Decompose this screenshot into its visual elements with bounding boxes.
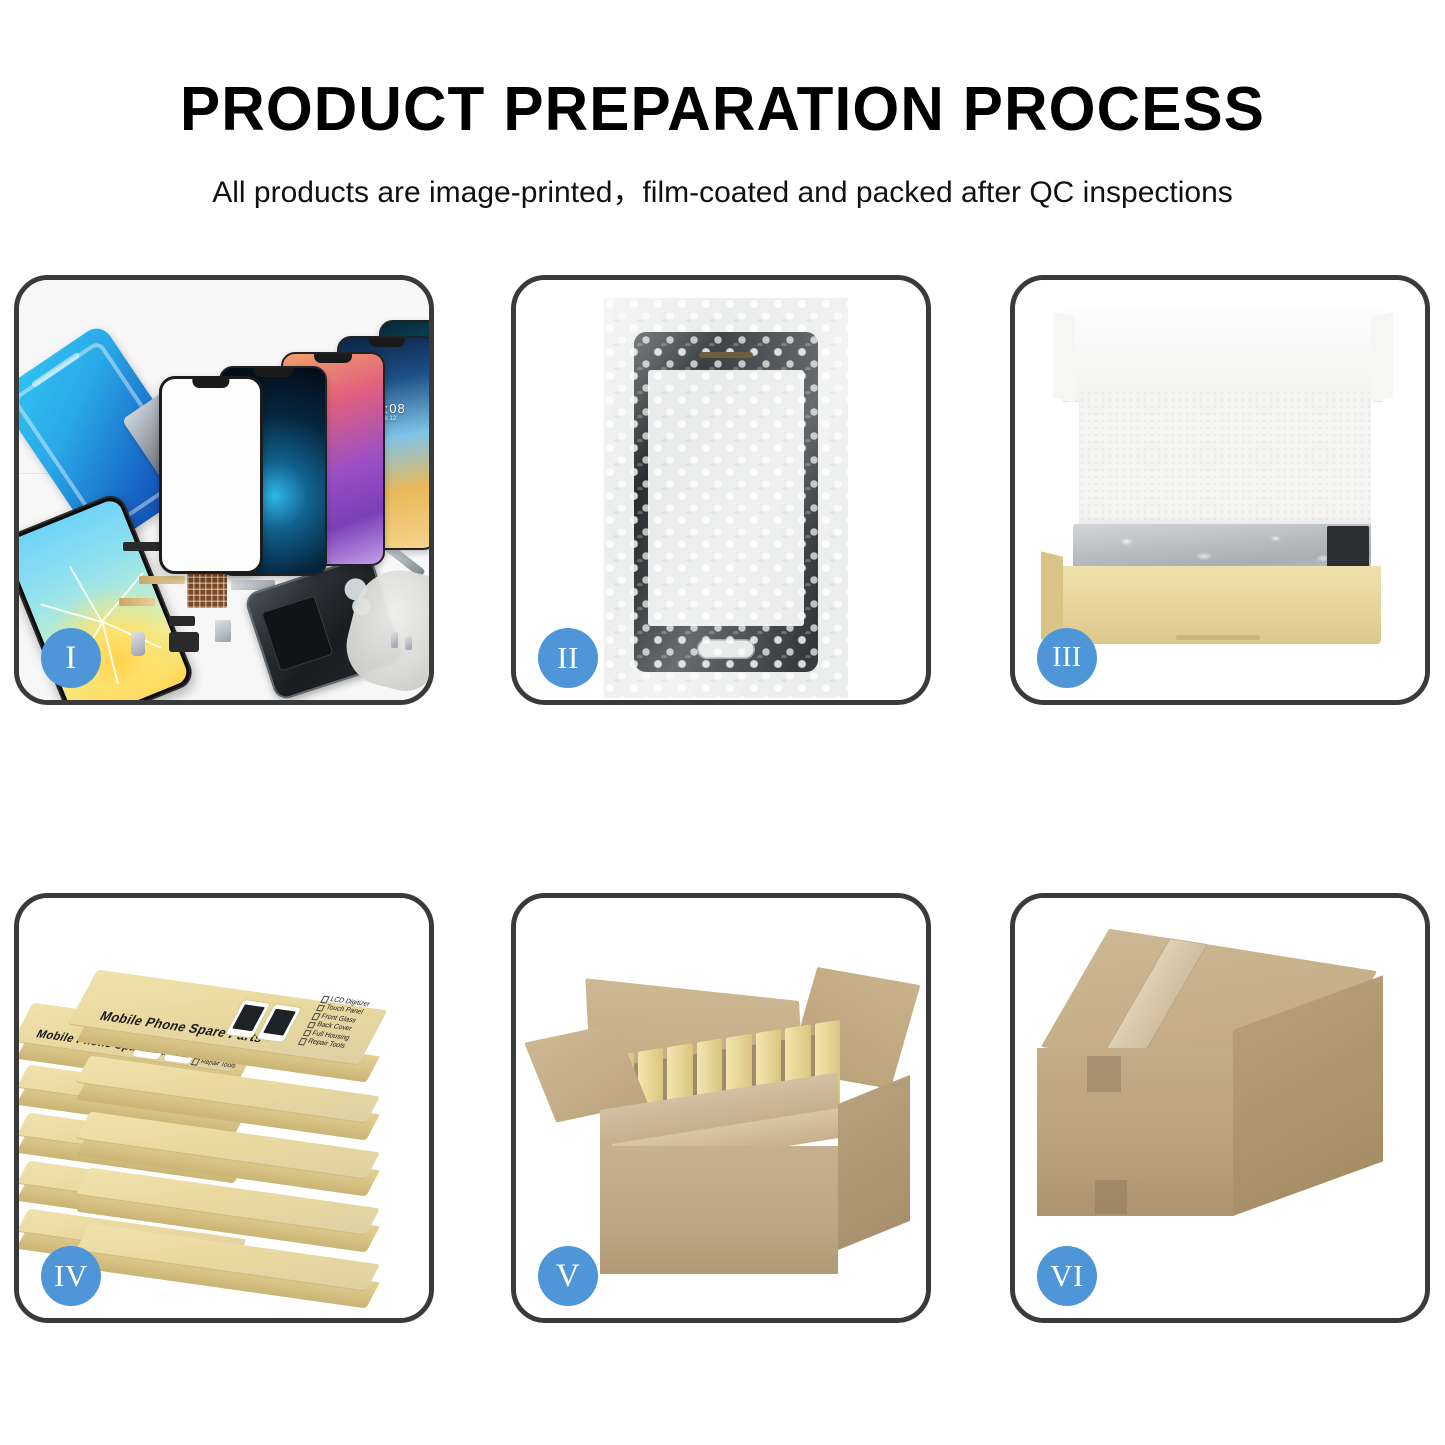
tape-tab bbox=[1095, 1180, 1127, 1214]
tape-tab bbox=[1087, 1056, 1121, 1092]
chip-array-part bbox=[187, 572, 227, 608]
process-step-6: VI bbox=[1010, 893, 1430, 1323]
step-badge-2: II bbox=[538, 628, 598, 688]
front-glass-panel bbox=[159, 376, 263, 574]
small-ic-part bbox=[169, 616, 195, 626]
sim-tray-part bbox=[131, 632, 145, 656]
step-badge-5: V bbox=[538, 1246, 598, 1306]
camera-module-part bbox=[169, 632, 199, 652]
phone-notch bbox=[314, 354, 352, 363]
step-badge-1: I bbox=[41, 628, 101, 688]
flex-cable-part bbox=[139, 576, 185, 584]
process-step-3: III bbox=[1010, 275, 1430, 705]
box-lid-open bbox=[1063, 306, 1383, 402]
carton-side-face bbox=[838, 1075, 910, 1250]
process-step-4: Mobile Phone Spare Parts LCD Digitizer T… bbox=[14, 893, 434, 1323]
step-badge-3: III bbox=[1037, 628, 1097, 688]
phone-notch bbox=[253, 368, 293, 377]
screw-part bbox=[391, 632, 398, 648]
foam-lining bbox=[1079, 390, 1371, 526]
stacked-box bbox=[83, 1132, 373, 1176]
stacked-box-labeled: Mobile Phone Spare Parts LCD Digitizer T… bbox=[83, 990, 373, 1066]
page-title: PRODUCT PREPARATION PROCESS bbox=[22, 74, 1424, 145]
stacked-box bbox=[83, 1244, 373, 1288]
phone-notch bbox=[369, 338, 405, 347]
flex-cable-part bbox=[119, 598, 155, 606]
page-subtitle: All products are image-printed，film-coat… bbox=[0, 167, 1445, 211]
step-badge-6: VI bbox=[1037, 1246, 1097, 1306]
phone-notch bbox=[192, 379, 229, 388]
process-step-5: V bbox=[511, 893, 931, 1323]
step-badge-4: IV bbox=[41, 1246, 101, 1306]
vibrator-part bbox=[215, 620, 231, 642]
screw-part bbox=[405, 636, 412, 650]
stacked-box bbox=[83, 1188, 373, 1232]
bubble-wrap-texture bbox=[604, 298, 848, 698]
earpiece-slot bbox=[699, 352, 753, 358]
process-step-1: 08:08 Tue 12 bbox=[14, 275, 434, 705]
header: PRODUCT PREPARATION PROCESS All products… bbox=[0, 0, 1445, 211]
carton-front-face bbox=[1037, 1048, 1233, 1216]
inner-box-front bbox=[1055, 566, 1381, 644]
process-step-2: II bbox=[511, 275, 931, 705]
product-preparation-infographic: PRODUCT PREPARATION PROCESS All products… bbox=[0, 0, 1445, 1445]
stacked-box bbox=[83, 1076, 373, 1120]
process-step-grid: 08:08 Tue 12 bbox=[14, 275, 1431, 1425]
carton-front-face bbox=[600, 1146, 838, 1274]
